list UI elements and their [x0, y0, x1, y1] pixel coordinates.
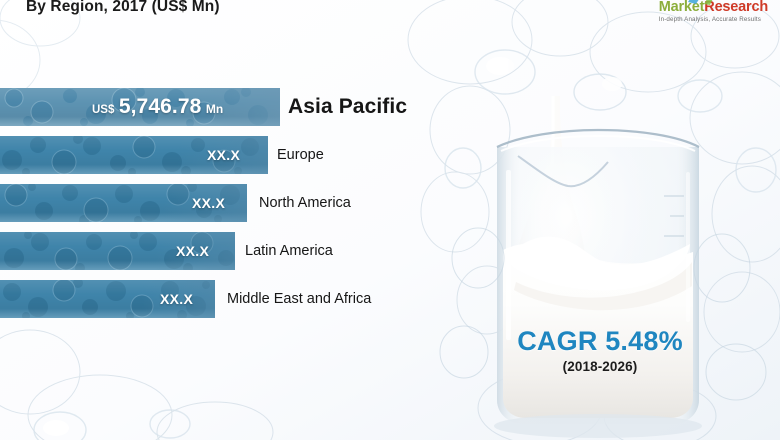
regional-bar-chart: US$ 5,746.78 Mn Asia Pacific	[0, 0, 780, 440]
bar-value-middle-east-and-africa: XX.X	[160, 280, 193, 318]
bar-value-europe: XX.X	[207, 136, 240, 174]
category-label-europe: Europe	[277, 136, 324, 174]
cagr-value: CAGR 5.48%	[505, 326, 695, 356]
cagr-annotation: CAGR 5.48% (2018-2026)	[505, 326, 695, 374]
value-unit: Mn	[206, 102, 223, 116]
brand-logo: MarketResearch In-depth Analysis, Accura…	[659, 0, 768, 23]
value-amount: 5,746.78	[119, 95, 202, 118]
cagr-period: (2018-2026)	[505, 359, 695, 374]
category-label-asia-pacific: Asia Pacific	[288, 88, 407, 126]
page-title: By Region, 2017 (US$ Mn)	[26, 0, 220, 16]
swoosh-icon	[684, 0, 738, 6]
category-label-north-america: North America	[259, 184, 351, 222]
category-label-middle-east-and-africa: Middle East and Africa	[227, 280, 371, 318]
bar-value-asia-pacific: US$ 5,746.78 Mn	[92, 88, 223, 126]
bar-value-north-america: XX.X	[192, 184, 225, 222]
bar-value-latin-america: XX.X	[176, 232, 209, 270]
category-label-latin-america: Latin America	[245, 232, 333, 270]
value-prefix: US$	[92, 104, 114, 116]
logo-tagline: In-depth Analysis, Accurate Results	[659, 16, 768, 23]
